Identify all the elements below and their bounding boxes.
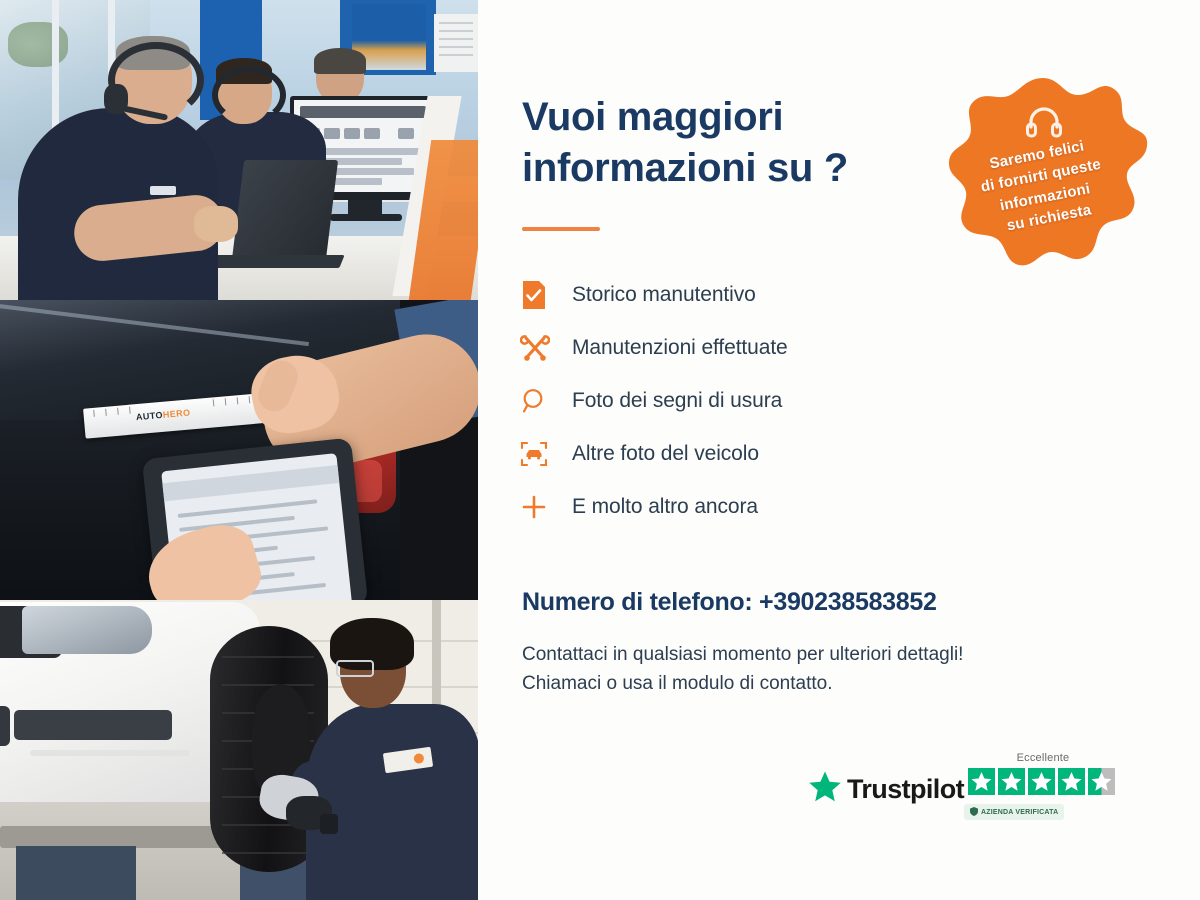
feature-label: Manutenzioni effettuate xyxy=(572,336,788,360)
ruler-brand-part2: HERO xyxy=(162,407,190,419)
contact-description-line-2: Chiamaci o usa il modulo di contatto. xyxy=(522,669,1142,698)
feature-list: Storico manutentivo Manutenzi xyxy=(520,268,990,533)
feature-item-altro-ancora: E molto altro ancora xyxy=(520,480,990,533)
bumper-line xyxy=(30,750,190,756)
title-underline-rule xyxy=(522,227,600,231)
star-1 xyxy=(968,768,995,795)
page-title: Vuoi maggiori informazioni su ? xyxy=(522,92,942,194)
lift-column xyxy=(16,846,136,900)
car-scan-icon xyxy=(520,434,572,474)
star-4 xyxy=(1058,768,1085,795)
headline-line-1: Vuoi maggiori xyxy=(522,92,942,143)
tools-cross-icon xyxy=(520,328,572,368)
car-side-vent xyxy=(0,706,10,746)
magnifier-icon xyxy=(520,381,572,421)
contact-description-line-1: Contattaci in qualsiasi momento per ulte… xyxy=(522,640,1142,669)
car-headlight xyxy=(22,606,152,654)
verified-company-badge: AZIENDA VERIFICATA xyxy=(964,804,1064,820)
call-center-photo xyxy=(0,0,478,300)
feature-label: Altre foto del veicolo xyxy=(572,442,759,466)
feature-label: Storico manutentivo xyxy=(572,283,756,307)
phone-number-label: Numero di telefono: +390238583852 xyxy=(522,588,1122,617)
mechanic xyxy=(300,618,478,900)
ruler-brand-part1: AUTO xyxy=(136,410,164,422)
monitor-base xyxy=(330,214,402,221)
verified-label: AZIENDA VERIFICATA xyxy=(981,809,1058,816)
headline-line-2: informazioni su ? xyxy=(522,143,942,194)
wall-document xyxy=(434,14,478,72)
laptop xyxy=(232,160,338,260)
safety-glasses xyxy=(336,660,374,677)
trustpilot-stars xyxy=(968,768,1115,795)
star-5-half xyxy=(1088,768,1115,795)
plus-icon xyxy=(520,487,572,527)
foreground-agent xyxy=(18,36,208,300)
feature-item-manutenzioni: Manutenzioni effettuate xyxy=(520,321,990,374)
contact-description: Contattaci in qualsiasi momento per ulte… xyxy=(522,640,1142,699)
star-3 xyxy=(1028,768,1055,795)
car-lower-grille xyxy=(14,710,172,740)
headset-icon xyxy=(1024,102,1064,140)
shield-icon xyxy=(970,803,978,821)
trustpilot-rating-label: Eccellente xyxy=(968,752,1118,764)
photo-strip: AUTOHERO xyxy=(0,0,478,900)
feature-label: Foto dei segni di usura xyxy=(572,389,782,413)
trustpilot-star-icon xyxy=(808,770,842,808)
feature-label: E molto altro ancora xyxy=(572,495,758,519)
star-2 xyxy=(998,768,1025,795)
callout-badge: Saremo felici di fornirti queste informa… xyxy=(938,72,1148,298)
trustpilot-wordmark: Trustpilot xyxy=(847,774,964,805)
vehicle-inspection-photo: AUTOHERO xyxy=(0,300,478,600)
trustpilot-logo: Trustpilot xyxy=(808,770,964,808)
workshop-wheel-photo xyxy=(0,600,478,900)
feature-item-altre-foto: Altre foto del veicolo xyxy=(520,427,990,480)
feature-item-storico: Storico manutentivo xyxy=(520,268,990,321)
promo-banner: AUTOHERO xyxy=(0,0,1200,900)
ruler-brand: AUTOHERO xyxy=(136,407,191,422)
document-check-icon xyxy=(520,275,572,315)
wristwatch xyxy=(320,814,338,834)
trustpilot-widget[interactable]: Trustpilot Eccellente AZIENDA xyxy=(808,752,1148,842)
feature-item-foto-usura: Foto dei segni di usura xyxy=(520,374,990,427)
